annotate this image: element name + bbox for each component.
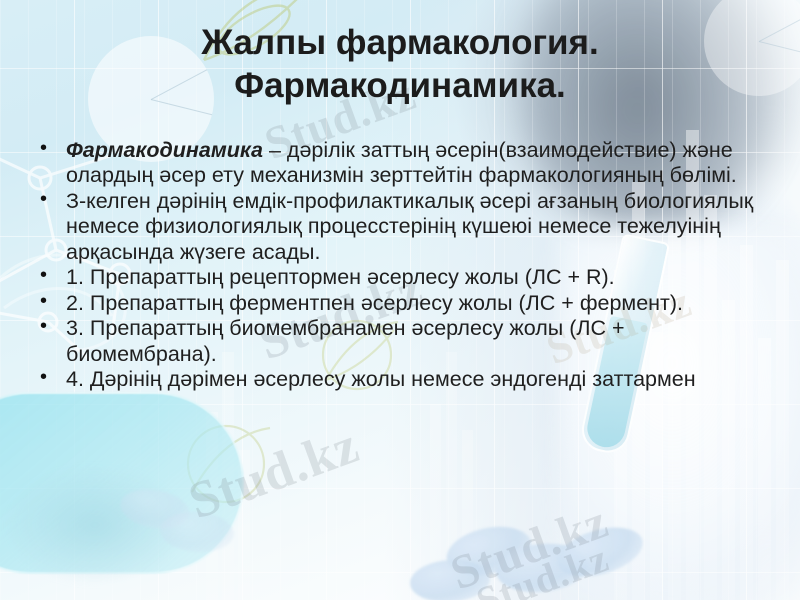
bullet-item: 4. Дәрінің дәрімен әсерлесу жолы немесе … [28, 367, 772, 392]
bullet-text: 4. Дәрінің дәрімен әсерлесу жолы немесе … [66, 367, 696, 391]
bullet-lead-term: Фармакодинамика [66, 138, 263, 162]
bullet-item: Фармакодинамика – дәрілік заттың әсерін(… [28, 138, 772, 189]
slide-title-line-2: Фармакодинамика. [60, 65, 740, 108]
bullet-text: 1. Препараттың рецептормен әсерлесу жолы… [66, 265, 615, 289]
bullet-item: З-келген дәрінің емдік-профилактикалық ә… [28, 189, 772, 265]
bullet-item: 3. Препараттың биомембранамен әсерлесу ж… [28, 316, 772, 367]
slide-title: Жалпы фармакология. Фармакодинамика. [60, 22, 740, 107]
slide-body: Фармакодинамика – дәрілік заттың әсерін(… [28, 138, 772, 393]
bullet-item: 2. Препараттың ферментпен әсерлесу жолы … [28, 291, 772, 316]
bullet-item: 1. Препараттың рецептормен әсерлесу жолы… [28, 265, 772, 290]
bullet-text: З-келген дәрінің емдік-профилактикалық ә… [66, 189, 753, 264]
bullet-text: 2. Препараттың ферментпен әсерлесу жолы … [66, 291, 683, 315]
bullet-list: Фармакодинамика – дәрілік заттың әсерін(… [28, 138, 772, 393]
slide-title-line-1: Жалпы фармакология. [60, 22, 740, 65]
presentation-slide: Stud.kz Stud.kz Stud.kz Stud.kz Stud.kz … [0, 0, 800, 600]
slide-content: Жалпы фармакология. Фармакодинамика. Фар… [0, 0, 800, 600]
bullet-text: 3. Препараттың биомембранамен әсерлесу ж… [66, 316, 625, 365]
